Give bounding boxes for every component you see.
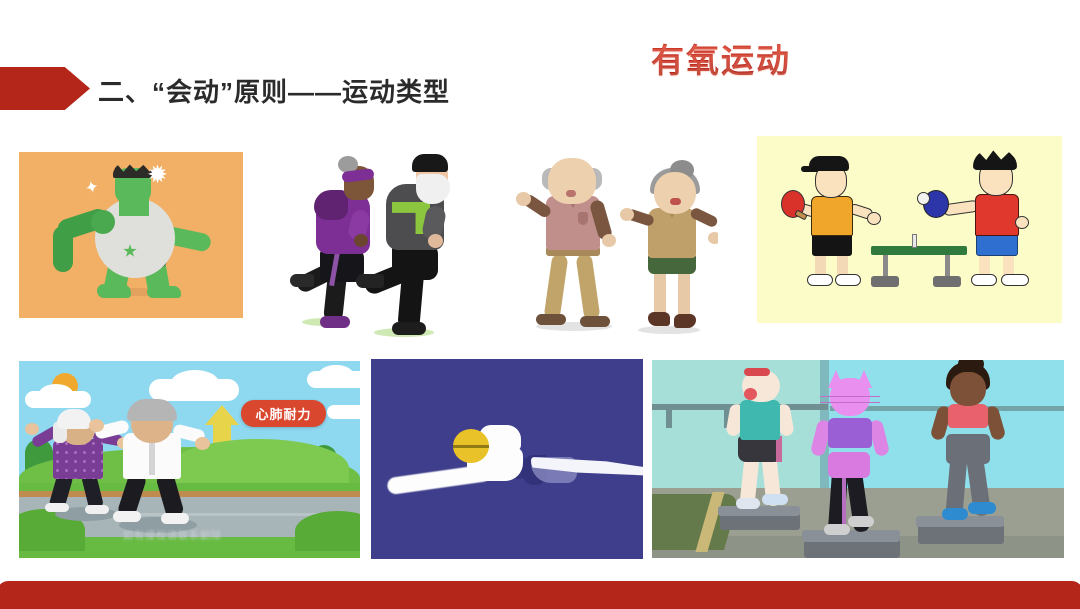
woman-right-heel [674, 314, 696, 328]
cloud [327, 405, 360, 419]
person1-left-shoe [736, 498, 760, 509]
table-base [871, 276, 899, 287]
person3-head [950, 372, 986, 406]
table-base [933, 276, 961, 287]
runner-a-front-shoe [320, 316, 350, 328]
person-a-left-shoe [45, 503, 69, 512]
runner-b-beanie [412, 154, 448, 172]
person-a-right-shoe [85, 505, 109, 514]
cloud [319, 365, 353, 383]
player2-hand [1015, 216, 1029, 229]
step-platform-top [802, 530, 900, 542]
section-marker-arrow [0, 67, 90, 110]
woman-left-heel [648, 312, 670, 326]
person3-sports-bra [948, 404, 988, 428]
cat-whisker [820, 402, 880, 403]
man-right-hand [602, 234, 616, 247]
page-title: 有氧运动 [651, 34, 791, 82]
man-shirt-emblem [578, 212, 588, 225]
step-platform-top [718, 506, 800, 516]
footer-bar [0, 581, 1080, 609]
swim-cap-line [453, 445, 489, 448]
person-b-left-shoe [113, 511, 141, 522]
bush [295, 511, 360, 551]
man-right-shoe [580, 316, 610, 327]
person1-right-shoe [762, 494, 788, 505]
man-mouth [566, 190, 576, 197]
table-leg [945, 254, 950, 278]
player2-left-shoe [971, 274, 997, 286]
person-a-headscarf [57, 409, 91, 429]
person2-sports-bra [828, 418, 872, 448]
person-b-right-hand [195, 437, 210, 450]
woman-right-hand [708, 232, 718, 244]
table-surface [871, 246, 967, 255]
ping-pong-ball [917, 192, 930, 205]
watermark-text: 如有侵权请联系删除 [123, 527, 263, 540]
player1-shirt [811, 196, 853, 236]
person3-leggings [946, 434, 990, 464]
runner-b-back-shoe [356, 274, 384, 288]
panel-elderly-couple[interactable] [508, 150, 718, 340]
player1-left-shoe [807, 274, 833, 286]
panel-brisk-walking[interactable]: ✦ ✹ [19, 152, 243, 318]
section-heading: 二、“会动”原则——运动类型 [98, 72, 450, 109]
player2-shirt [975, 194, 1019, 236]
cat-whisker [820, 396, 880, 397]
player2-hair [973, 150, 1017, 170]
person-a-shirt-pattern [53, 439, 103, 479]
person3-right-shoe [968, 502, 996, 514]
man-left-hand [516, 192, 531, 206]
man-right-leg [575, 253, 600, 321]
panel-jogging[interactable] [288, 148, 478, 340]
player1-cap [809, 156, 849, 171]
player2-right-shoe [1001, 274, 1029, 286]
person1-headband [744, 368, 770, 376]
woman-left-hand [620, 208, 634, 221]
runner-a-hood [314, 190, 348, 220]
woman-right-leg [678, 268, 690, 320]
man-head [548, 158, 596, 204]
person1-cheek [744, 388, 757, 400]
person2-right-shoe [848, 516, 874, 527]
cloud [39, 384, 73, 404]
person3-left-shoe [942, 508, 968, 520]
panel-taichi[interactable]: 如有侵权请联系删除 心肺耐力 [19, 361, 360, 558]
person-b-hair [127, 399, 177, 421]
runner-a-hand [354, 234, 368, 247]
person-a-left-hand [25, 423, 39, 435]
person2-left-shoe [824, 524, 850, 535]
panel-step-aerobics[interactable] [652, 360, 1064, 558]
barre-bracket [666, 408, 672, 428]
panel-swimming[interactable] [371, 359, 643, 559]
sparkle-large-icon: ✹ [147, 160, 168, 190]
table-net [912, 234, 917, 248]
step-platform [918, 524, 1004, 544]
woman-face [656, 180, 694, 212]
table-leg [883, 254, 888, 278]
person-b-right-shoe [161, 513, 189, 524]
runner-a-back-shoe [290, 274, 314, 287]
woman-mouth [670, 198, 681, 205]
left-shoe [97, 284, 131, 298]
player1-hand [867, 212, 881, 225]
runner-b-beard [416, 174, 450, 204]
person2-hips [828, 452, 870, 478]
cloud [171, 370, 219, 396]
runner-b-hand [428, 234, 443, 248]
player1-right-shoe [835, 274, 861, 286]
man-left-leg [543, 253, 568, 321]
person2-legging-stripe [842, 470, 846, 530]
sparkle-small-icon: ✦ [83, 177, 102, 200]
person-b-left-hand [89, 419, 104, 432]
left-fist [91, 210, 115, 234]
right-shoe [147, 286, 181, 298]
man-left-shoe [536, 314, 566, 325]
runner-b-front-shoe [392, 322, 426, 335]
person1-tank-top [740, 400, 780, 440]
status-badge: 心肺耐力 [241, 400, 326, 427]
panel-table-tennis[interactable] [757, 136, 1062, 323]
